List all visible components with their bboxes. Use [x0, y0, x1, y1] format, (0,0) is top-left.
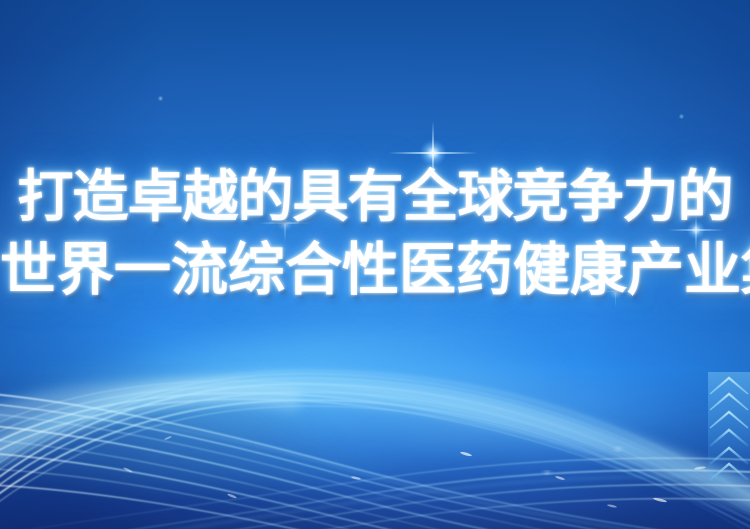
slogan-banner: 打造卓越的具有全球竞争力的 世界一流综合性医药健康产业集团 [0, 0, 750, 529]
slogan-line-1: 打造卓越的具有全球竞争力的 [0, 170, 750, 226]
slogan-line-2: 世界一流综合性医药健康产业集团 [0, 242, 750, 299]
shadow-lower-left [0, 317, 488, 529]
shadow-lower-right [435, 381, 750, 529]
slogan-text-block: 打造卓越的具有全球竞争力的 世界一流综合性医药健康产业集团 [0, 170, 750, 299]
